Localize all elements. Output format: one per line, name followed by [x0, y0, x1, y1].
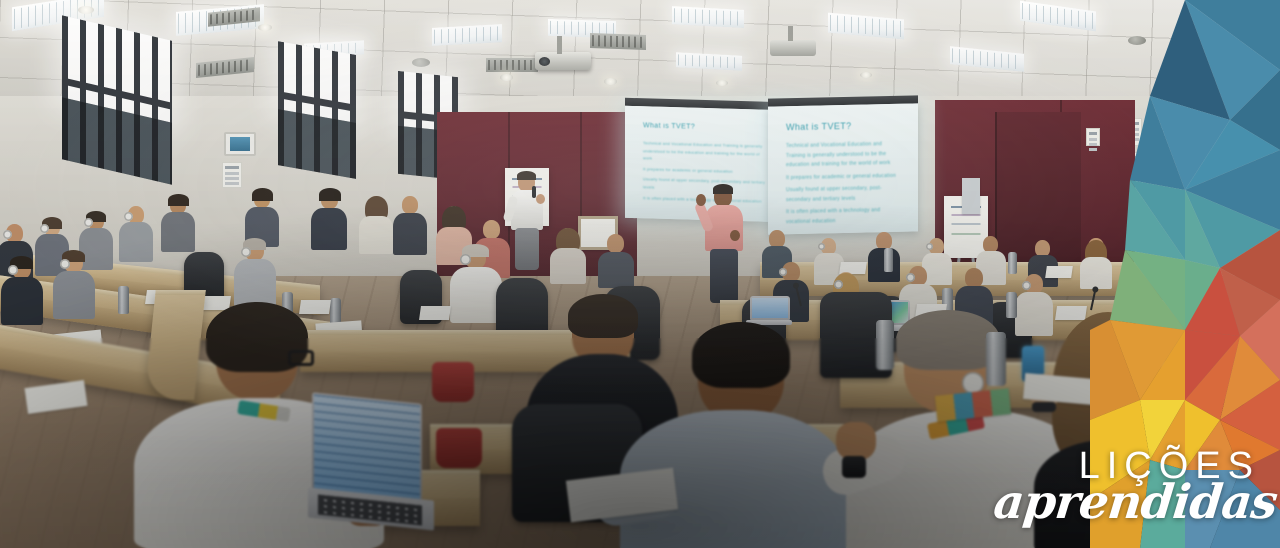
headset-earpiece: [40, 224, 49, 233]
wall-control-panel[interactable]: [224, 132, 256, 156]
attendee-left-mid: [0, 258, 44, 324]
slide-bullet: Usually found at upper secondary, post-s…: [786, 184, 900, 205]
ceiling-air-vent: [590, 33, 646, 50]
attendee-torso: [550, 248, 586, 284]
attendee-torso: [359, 216, 393, 254]
attendee-torso: [311, 208, 347, 250]
laptop-display: [752, 298, 788, 318]
headset-earpiece: [124, 212, 133, 221]
presenter-hand: [696, 194, 706, 206]
attendee-torso: [1080, 257, 1112, 289]
window-lower-glass-right: [398, 126, 442, 179]
laptop-display: [314, 394, 420, 499]
attendee-hair: [168, 194, 189, 206]
attendee-hair: [692, 322, 790, 388]
attendee-hair: [252, 188, 273, 201]
attendee-left-back: [310, 190, 350, 248]
slide-bullet: Technical and Vocational Education and T…: [643, 139, 767, 165]
attendee-left-mid: [52, 252, 96, 318]
ceiling-projector-secondary: [770, 40, 816, 56]
attendee-torso-white-shirt: [450, 267, 502, 323]
presenter-trousers: [710, 249, 738, 303]
travel-mug: [986, 332, 1006, 386]
slide-title: What is TVET?: [786, 120, 900, 132]
attendee-head: [402, 196, 418, 214]
window-mullion: [278, 91, 356, 112]
presenter-left: [506, 172, 548, 268]
ceiling-downlight: [604, 78, 617, 85]
ceiling-downlight: [716, 80, 728, 86]
ceiling-downlight: [78, 6, 94, 14]
slide-bullet: It is often placed with a technology and…: [786, 206, 900, 227]
attendee-torso: [161, 212, 195, 252]
attendee-left-back: [358, 196, 396, 252]
wall-notice: [1148, 126, 1166, 150]
ceiling-downlight: [860, 72, 872, 78]
poster-board: [962, 178, 980, 214]
laptop-screen: [750, 296, 790, 320]
presenter-hair: [713, 184, 733, 194]
attendee-left-back: [118, 206, 156, 262]
headset-earpiece: [818, 243, 825, 250]
attendee-left-back: [596, 234, 636, 286]
ceiling-light-panel: [672, 6, 744, 28]
slide-title: What is TVET?: [643, 122, 767, 132]
attendee-torso: [119, 222, 153, 262]
ceiling-downlight: [500, 74, 513, 81]
slide-bullet: It prepares for academic or general educ…: [643, 165, 767, 176]
presenter-trousers: [515, 228, 539, 270]
headset-earpiece: [8, 265, 18, 275]
headset-earpiece: [241, 247, 251, 257]
presenter-hair: [517, 171, 536, 180]
presenter-hand: [730, 230, 740, 241]
attendee-torso: [53, 271, 95, 319]
attendee-left-mid: [232, 240, 278, 306]
projector-mount-arm: [788, 26, 793, 41]
headset-earpiece: [60, 259, 70, 269]
control-panel-screen: [230, 137, 250, 151]
conference-room-photo: EXIT What is TVET? Technical and Vocatio…: [0, 0, 1280, 548]
wall-notice: [1086, 128, 1100, 146]
slide-bullet-list: Technical and Vocational Education and T…: [786, 140, 900, 227]
attendee-left-back: [548, 228, 588, 282]
headset-earpiece: [779, 268, 787, 276]
headset-earpiece: [834, 280, 843, 289]
headset-earpiece: [1022, 281, 1031, 290]
presenter-right: [700, 186, 748, 304]
desk-edge: [155, 290, 206, 295]
headset-earpiece: [84, 218, 93, 227]
bracelet: [1032, 402, 1056, 412]
attendee-torso: [393, 213, 427, 255]
red-handbag: [436, 428, 482, 468]
water-bottle: [884, 248, 893, 272]
water-bottle: [1006, 292, 1017, 318]
travel-mug: [876, 320, 894, 370]
attendee-foreground-blue-shirt: [620, 330, 850, 548]
ceiling-light-panel: [432, 24, 502, 46]
water-bottle: [1008, 252, 1017, 274]
microphone: [532, 186, 536, 198]
projection-screen-right: What is TVET? Technical and Vocational E…: [768, 103, 918, 234]
attendee-torso: [234, 259, 276, 307]
attendee-hand: [836, 422, 876, 460]
attendee-head: [483, 220, 500, 239]
projector-lens: [539, 57, 550, 66]
laptop-foreground[interactable]: [312, 398, 434, 526]
ceiling-downlight: [258, 24, 272, 31]
attendee-head: [607, 234, 624, 253]
slide-bullet: It prepares for academic or general educ…: [786, 171, 900, 183]
attendee-back-right: [1078, 238, 1114, 286]
attendee-torso: [598, 252, 634, 288]
attendee-head: [965, 268, 983, 288]
headset-earpiece: [3, 230, 12, 239]
slide-bullet: Technical and Vocational Education and T…: [786, 140, 900, 171]
ceiling-speaker: [412, 58, 430, 67]
ceiling-projector: [535, 52, 591, 70]
ceiling-speaker: [1128, 36, 1146, 45]
laptop-mid-right[interactable]: [746, 296, 792, 326]
water-bottle: [118, 286, 129, 314]
attendee-left-back: [392, 196, 430, 254]
projector-mount-arm: [557, 36, 562, 54]
headset-earpiece: [460, 254, 471, 265]
attendee-hair: [319, 188, 341, 201]
wall-notice: [222, 162, 242, 188]
attendee-torso: [1, 277, 43, 325]
headset-earpiece: [926, 243, 933, 250]
office-chair-foreground[interactable]: [1136, 400, 1256, 548]
attendee-hair-grey: [896, 310, 1000, 370]
name-card: [419, 306, 451, 320]
slide-content-right: What is TVET? Technical and Vocational E…: [768, 103, 918, 234]
screenshot-root: EXIT What is TVET? Technical and Vocatio…: [0, 0, 1280, 548]
attendee-left-back: [160, 196, 198, 252]
red-handbag: [432, 362, 474, 402]
wristwatch: [842, 456, 866, 478]
ceiling-air-vent: [486, 58, 538, 72]
laptop-screen: [312, 392, 422, 502]
headset-earpiece: [906, 273, 915, 282]
presenter-hand: [536, 194, 545, 204]
eyeglasses: [288, 350, 314, 366]
